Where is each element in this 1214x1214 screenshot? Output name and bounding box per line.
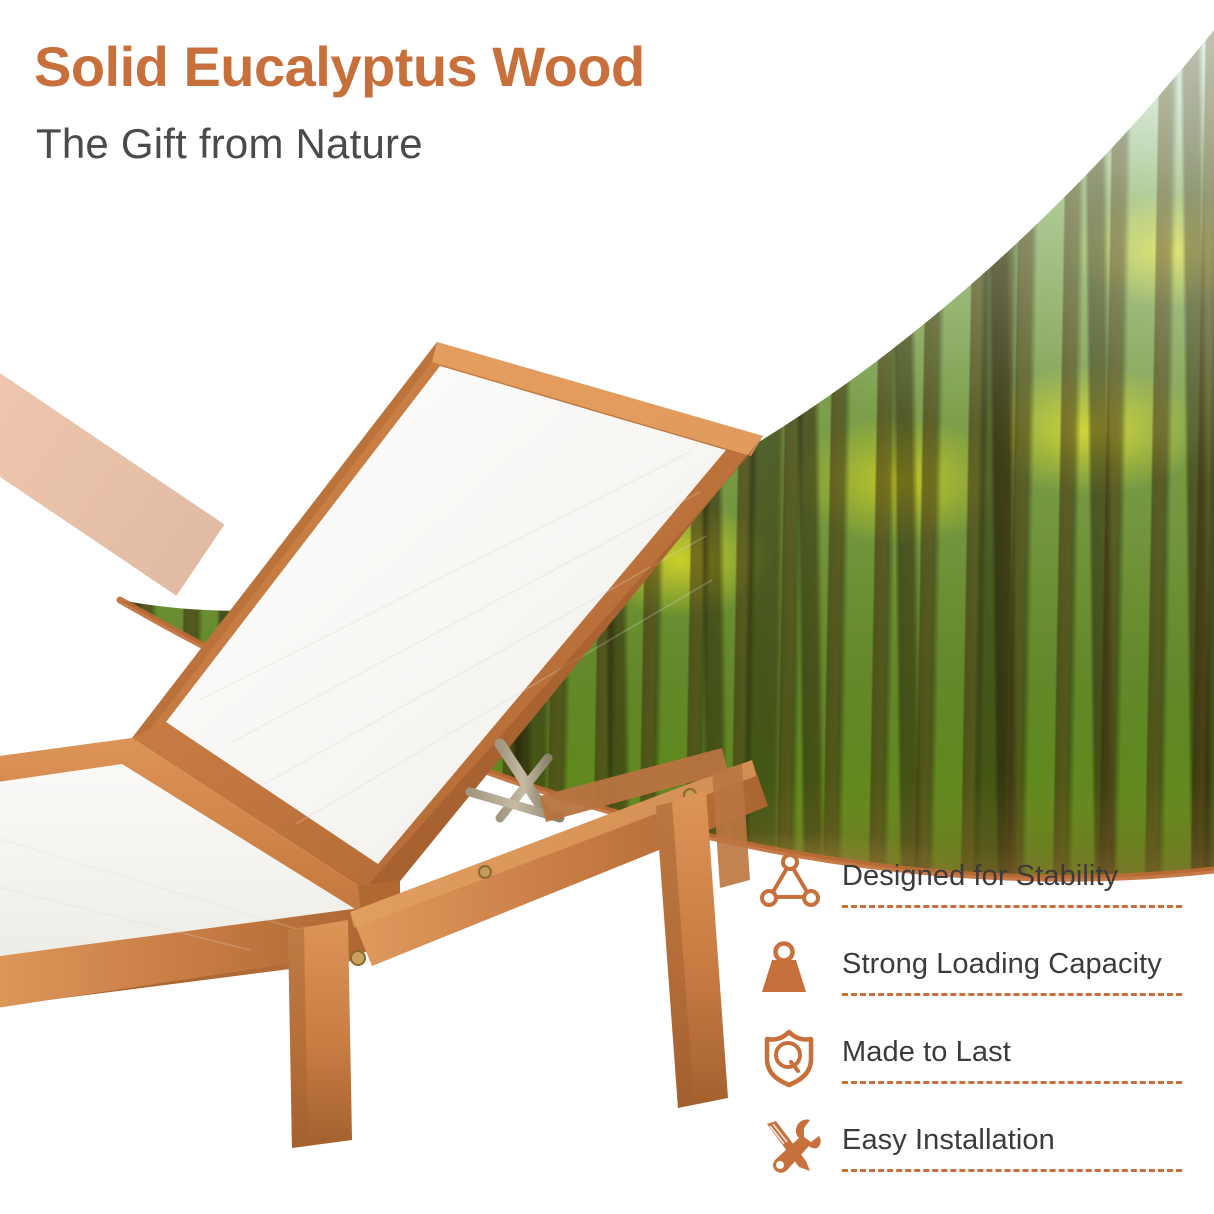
feature-body: Made to Last [842,1024,1188,1092]
feature-divider [842,905,1182,908]
tools-icon [758,1112,822,1180]
feature-label: Strong Loading Capacity [842,950,1162,979]
feature-label: Made to Last [842,1038,1011,1067]
product-feature-banner: Solid Eucalyptus Wood The Gift from Natu… [0,0,1214,1214]
faded-wood-band [0,362,224,595]
feature-body: Designed for Stability [842,848,1188,916]
feature-divider [842,1169,1182,1172]
shield-quality-icon [758,1024,822,1092]
page-title: Solid Eucalyptus Wood [34,34,645,99]
weight-icon [758,936,822,1004]
feature-item-easy-installation: Easy Installation [758,1102,1188,1190]
feature-list: Designed for Stability Strong Loading Ca… [758,838,1188,1190]
feature-item-loading-capacity: Strong Loading Capacity [758,926,1188,1014]
feature-divider [842,1081,1182,1084]
feature-label: Designed for Stability [842,862,1118,891]
chair-recline-hinge [326,880,400,965]
feature-body: Strong Loading Capacity [842,936,1188,1004]
triangle-stability-icon [758,848,822,916]
feature-label: Easy Installation [842,1126,1055,1155]
feature-item-stability: Designed for Stability [758,838,1188,926]
chair-leg-front [288,920,352,1148]
page-subtitle: The Gift from Nature [36,120,423,168]
feature-divider [842,993,1182,996]
feature-item-made-to-last: Made to Last [758,1014,1188,1102]
feature-body: Easy Installation [842,1112,1188,1180]
chair-seat [0,738,392,1012]
